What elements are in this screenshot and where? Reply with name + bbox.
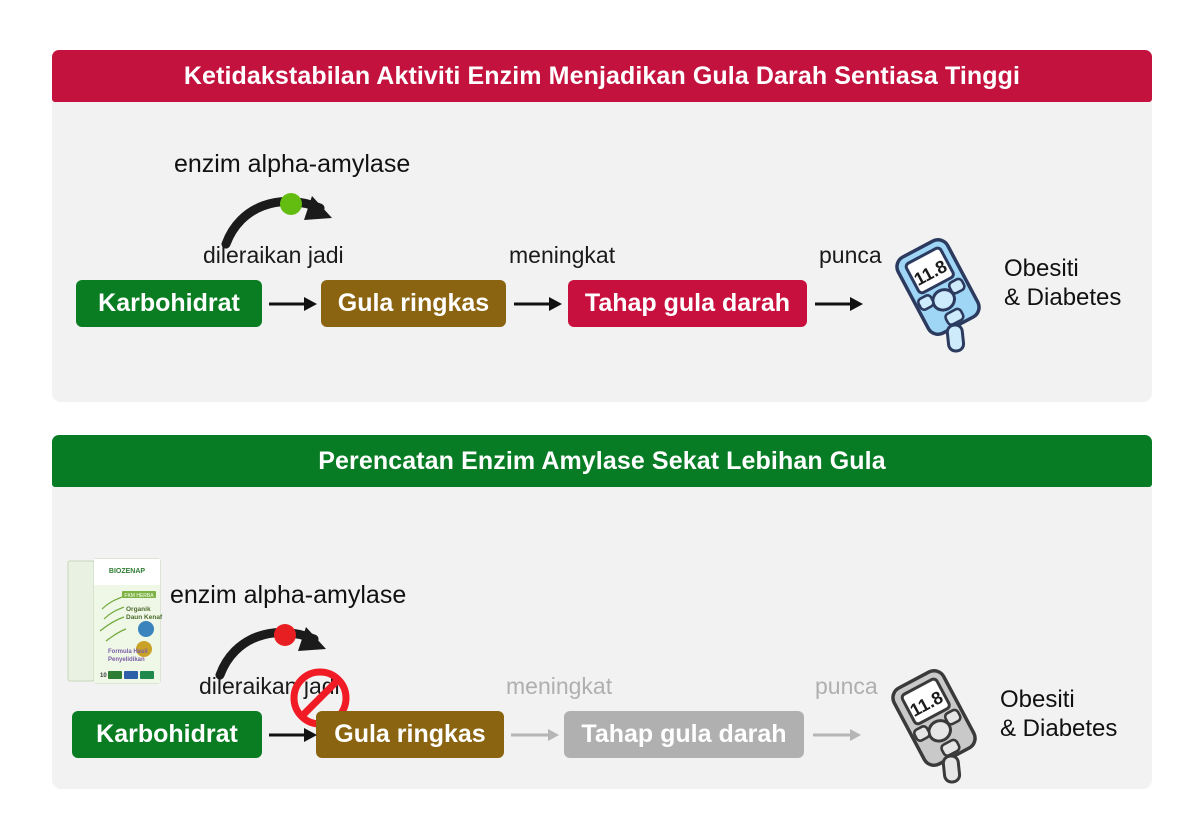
box-karbohidrat-1[interactable]: Karbohidrat bbox=[76, 280, 262, 327]
connector-arrow-2c bbox=[812, 725, 862, 745]
box-gula-ringkas-2[interactable]: Gula ringkas bbox=[316, 711, 504, 758]
connector-arrow-2a bbox=[268, 725, 318, 745]
caption-increase-1: meningkat bbox=[509, 242, 615, 269]
caption-increase-2: meningkat bbox=[506, 673, 612, 700]
connector-arrow-1c bbox=[814, 294, 864, 314]
glucometer-icon-color: 11.8 bbox=[884, 234, 996, 356]
caption-breakdown-1: dileraikan jadi bbox=[203, 242, 344, 269]
enzyme-label-2: enzim alpha-amylase bbox=[170, 581, 406, 610]
outcome-line-1a: Obesiti bbox=[1004, 254, 1121, 283]
panel-2-body: BIOZENAP FKM HERBA Organik Daun Kenaf Fo… bbox=[52, 487, 1152, 789]
panel-enzyme-inhibited: Perencatan Enzim Amylase Sekat Lebihan G… bbox=[52, 435, 1152, 789]
panel-1-body: enzim alpha-amylase dileraikan jadi meni… bbox=[52, 102, 1152, 402]
panel-1-header-text: Ketidakstabilan Aktiviti Enzim Menjadika… bbox=[184, 62, 1020, 91]
product-box-image: BIOZENAP FKM HERBA Organik Daun Kenaf Fo… bbox=[64, 557, 166, 687]
panel-unstable-enzyme: Ketidakstabilan Aktiviti Enzim Menjadika… bbox=[52, 50, 1152, 402]
box-tahap-gula-darah-2[interactable]: Tahap gula darah bbox=[564, 711, 804, 758]
caption-cause-2: punca bbox=[815, 673, 878, 700]
product-subtitle-2: Penyelidikan bbox=[108, 657, 145, 663]
panel-2-header-text: Perencatan Enzim Amylase Sekat Lebihan G… bbox=[318, 447, 885, 476]
caption-cause-1: punca bbox=[819, 242, 882, 269]
panel-2-header: Perencatan Enzim Amylase Sekat Lebihan G… bbox=[52, 435, 1152, 487]
product-title-2: Daun Kenaf bbox=[126, 614, 163, 621]
outcome-line-2a: Obesiti bbox=[1000, 685, 1117, 714]
product-sachet-count: 10 bbox=[100, 673, 107, 679]
box-tahap-gula-darah-1[interactable]: Tahap gula darah bbox=[568, 280, 807, 327]
enzyme-dot-red bbox=[274, 624, 296, 646]
enzyme-dot-green bbox=[280, 193, 302, 215]
product-title-1: Organik bbox=[126, 606, 151, 613]
outcome-line-2b: & Diabetes bbox=[1000, 714, 1117, 743]
box-karbohidrat-2[interactable]: Karbohidrat bbox=[72, 711, 262, 758]
glucometer-icon-grey: 11.8 bbox=[880, 665, 992, 787]
box-gula-ringkas-1[interactable]: Gula ringkas bbox=[321, 280, 506, 327]
product-subtitle-1: Formula Hasil bbox=[108, 649, 148, 655]
outcome-text-1: Obesiti & Diabetes bbox=[1004, 254, 1121, 313]
product-brand: BIOZENAP bbox=[109, 568, 146, 575]
outcome-text-2: Obesiti & Diabetes bbox=[1000, 685, 1117, 744]
product-badge: FKM HERBA bbox=[124, 593, 154, 599]
panel-1-header: Ketidakstabilan Aktiviti Enzim Menjadika… bbox=[52, 50, 1152, 102]
connector-arrow-1a bbox=[268, 294, 318, 314]
connector-arrow-1b bbox=[513, 294, 563, 314]
outcome-line-1b: & Diabetes bbox=[1004, 283, 1121, 312]
enzyme-label-1: enzim alpha-amylase bbox=[174, 150, 410, 179]
connector-arrow-2b bbox=[510, 725, 560, 745]
